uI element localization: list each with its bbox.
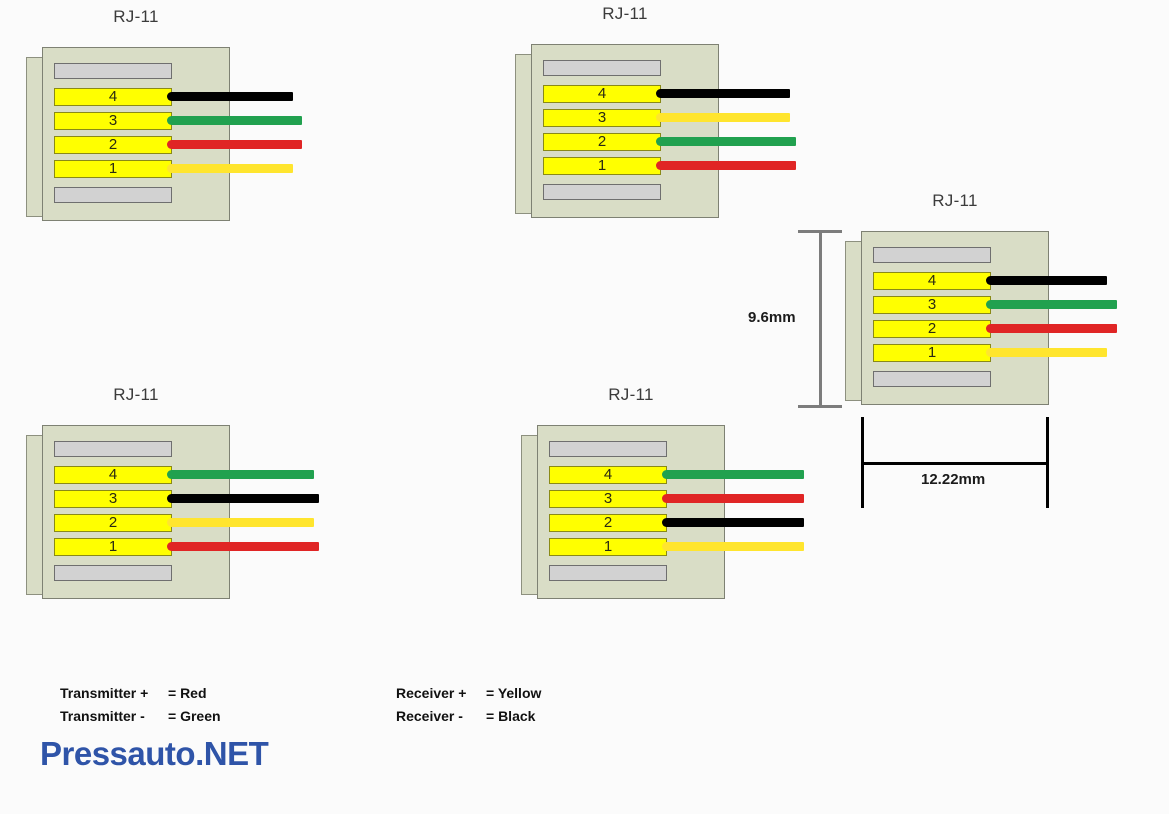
wire-black-pin-4 xyxy=(171,92,293,101)
pin-1: 1 xyxy=(54,160,172,178)
pin-2: 2 xyxy=(54,514,172,532)
pin-1: 1 xyxy=(543,157,661,175)
legend-row-receiver-minus: Receiver -= Black xyxy=(396,708,535,724)
connector-title: RJ-11 xyxy=(42,7,230,27)
pin-2: 2 xyxy=(549,514,667,532)
connector-body: 4321 xyxy=(42,47,230,221)
wire-yellow-pin-1 xyxy=(990,348,1107,357)
wire-red-pin-3 xyxy=(666,494,804,503)
height-dim-cap-bottom xyxy=(798,405,842,408)
connector-slot-top xyxy=(873,247,991,263)
wire-green-pin-3 xyxy=(990,300,1117,309)
wire-black-pin-4 xyxy=(660,89,790,98)
legend-row-transmitter-plus: Transmitter += Red xyxy=(60,685,207,701)
pin-2: 2 xyxy=(54,136,172,154)
legend-value: = Green xyxy=(168,708,221,724)
pin-2: 2 xyxy=(873,320,991,338)
wire-green-pin-3 xyxy=(171,116,302,125)
legend-term: Transmitter - xyxy=(60,708,168,724)
wire-red-pin-2 xyxy=(171,140,302,149)
diagram-canvas: RJ-114321RJ-114321RJ-114321RJ-114321RJ-1… xyxy=(0,0,1169,814)
pin-4: 4 xyxy=(543,85,661,103)
wire-red-pin-1 xyxy=(660,161,796,170)
connector-graphic: 4321 xyxy=(861,231,1049,405)
wire-yellow-pin-1 xyxy=(666,542,804,551)
connector-graphic: 4321 xyxy=(531,44,719,218)
pin-2: 2 xyxy=(543,133,661,151)
wire-green-pin-4 xyxy=(171,470,314,479)
height-dim-line xyxy=(819,230,822,408)
legend-value: = Yellow xyxy=(486,685,541,701)
connector-title: RJ-11 xyxy=(42,385,230,405)
height-dim-label: 9.6mm xyxy=(748,309,796,326)
connector-body: 4321 xyxy=(537,425,725,599)
width-dim-label: 12.22mm xyxy=(921,471,985,488)
legend-value: = Red xyxy=(168,685,207,701)
wire-green-pin-2 xyxy=(660,137,796,146)
legend-term: Transmitter + xyxy=(60,685,168,701)
connector-slot-bottom xyxy=(54,565,172,581)
connector-slot-bottom xyxy=(54,187,172,203)
connector-graphic: 4321 xyxy=(42,425,230,599)
connector-title: RJ-11 xyxy=(861,191,1049,211)
connector-slot-bottom xyxy=(873,371,991,387)
connector-body: 4321 xyxy=(531,44,719,218)
legend-value: = Black xyxy=(486,708,535,724)
pin-4: 4 xyxy=(873,272,991,290)
pin-3: 3 xyxy=(873,296,991,314)
connector-graphic: 4321 xyxy=(537,425,725,599)
connector-slot-top xyxy=(54,441,172,457)
connector-body: 4321 xyxy=(42,425,230,599)
wire-black-pin-2 xyxy=(666,518,804,527)
pin-4: 4 xyxy=(549,466,667,484)
pin-1: 1 xyxy=(873,344,991,362)
pin-1: 1 xyxy=(549,538,667,556)
connector-title: RJ-11 xyxy=(537,385,725,405)
watermark-pressauto: Pressauto.NET xyxy=(40,735,268,773)
pin-3: 3 xyxy=(54,112,172,130)
pin-3: 3 xyxy=(54,490,172,508)
connector-slot-bottom xyxy=(549,565,667,581)
connector-graphic: 4321 xyxy=(42,47,230,221)
legend-term: Receiver - xyxy=(396,708,486,724)
wire-yellow-pin-1 xyxy=(171,164,293,173)
connector-body: 4321 xyxy=(861,231,1049,405)
connector-title: RJ-11 xyxy=(531,4,719,24)
pin-1: 1 xyxy=(54,538,172,556)
pin-3: 3 xyxy=(549,490,667,508)
connector-slot-top xyxy=(54,63,172,79)
wire-yellow-pin-3 xyxy=(660,113,790,122)
connector-slot-top xyxy=(549,441,667,457)
wire-red-pin-1 xyxy=(171,542,319,551)
pin-4: 4 xyxy=(54,466,172,484)
wire-black-pin-3 xyxy=(171,494,319,503)
connector-slot-top xyxy=(543,60,661,76)
legend-row-receiver-plus: Receiver += Yellow xyxy=(396,685,541,701)
wire-red-pin-2 xyxy=(990,324,1117,333)
connector-slot-bottom xyxy=(543,184,661,200)
legend-term: Receiver + xyxy=(396,685,486,701)
wire-black-pin-4 xyxy=(990,276,1107,285)
legend-row-transmitter-minus: Transmitter -= Green xyxy=(60,708,221,724)
pin-3: 3 xyxy=(543,109,661,127)
pin-4: 4 xyxy=(54,88,172,106)
width-dim-line xyxy=(861,462,1049,465)
wire-green-pin-4 xyxy=(666,470,804,479)
wire-yellow-pin-2 xyxy=(171,518,314,527)
